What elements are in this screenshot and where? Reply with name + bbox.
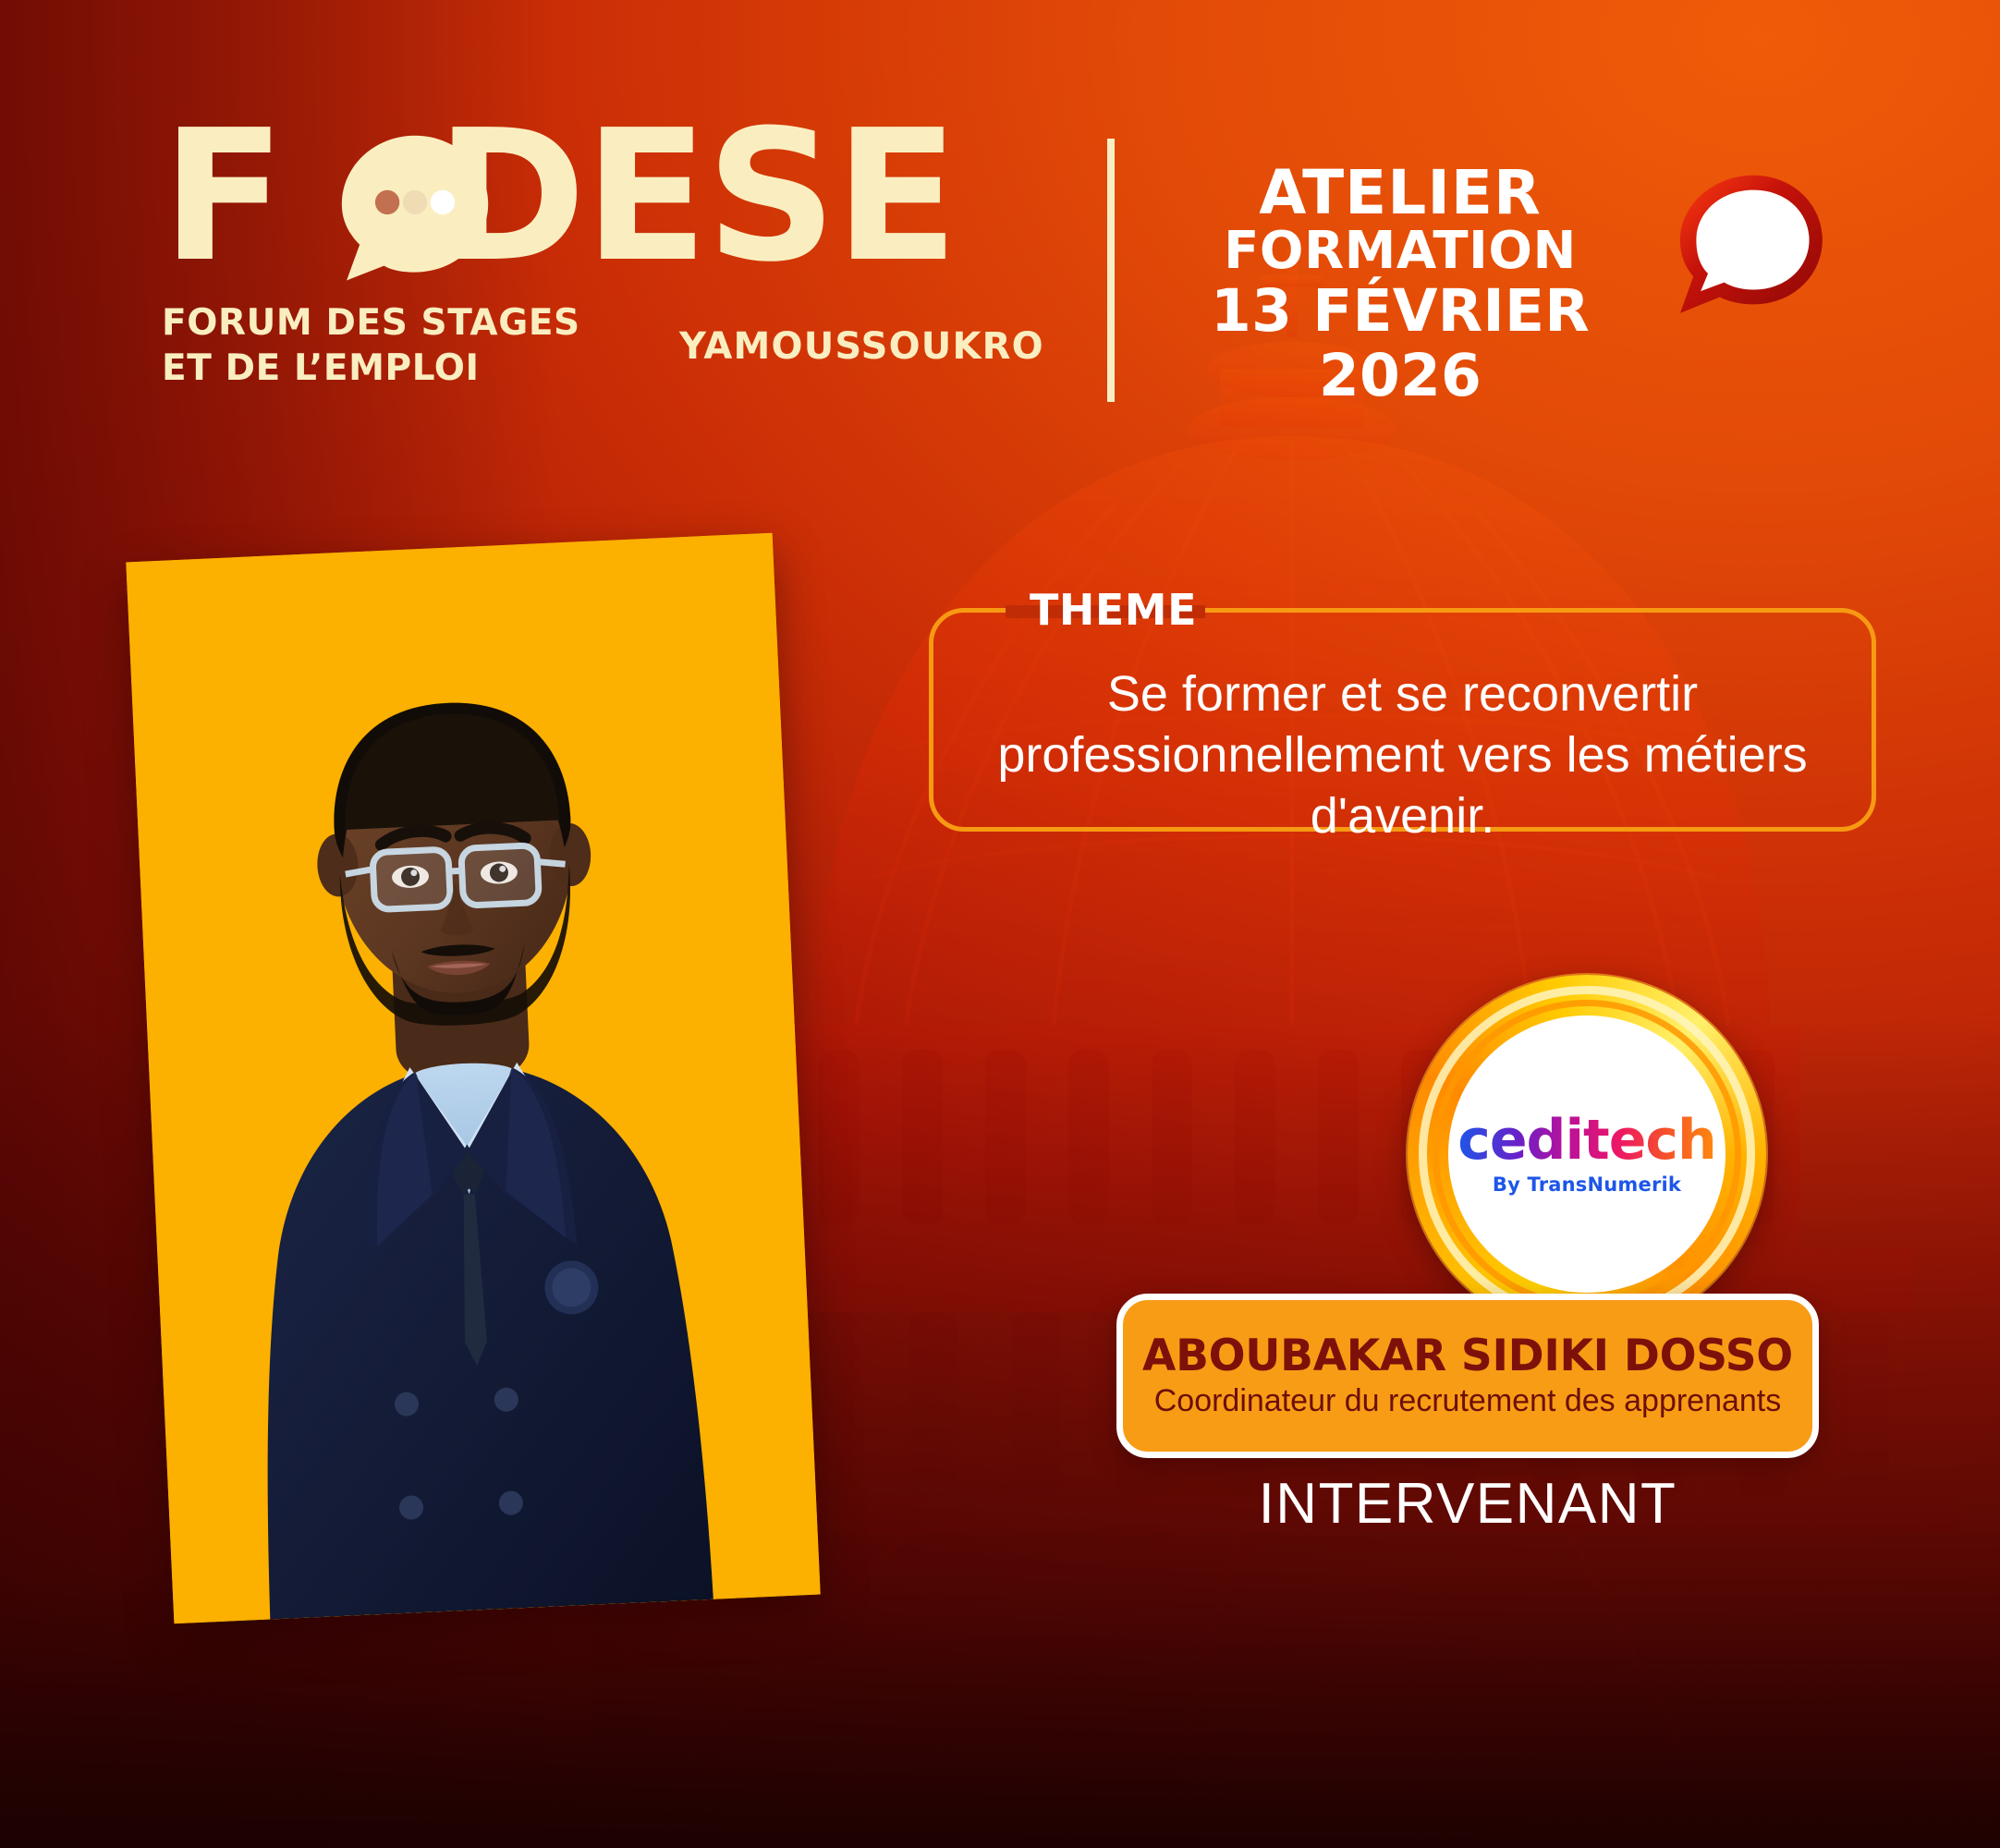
ceditech-byline: By TransNumerik	[1493, 1173, 1681, 1196]
poster-header: FODESE FORUM DES STAGES ET DE L’EMPLOI Y…	[0, 0, 2000, 434]
ceditech-logo-badge: ceditech By TransNumerik	[1408, 975, 1766, 1333]
event-info: ATELIER FORMATION 13 FÉVRIER 2026	[1174, 162, 1627, 409]
ceditech-disc: ceditech By TransNumerik	[1448, 1015, 1726, 1293]
speaker-photo-card	[126, 533, 820, 1624]
speaker-role: Coordinateur du recrutement des apprenan…	[1154, 1384, 1782, 1418]
logo-letters-dese: DESE	[436, 91, 957, 302]
logo-letter-f: F	[162, 91, 284, 302]
ceditech-wordmark: ceditech	[1457, 1112, 1715, 1168]
poster-canvas: FODESE FORUM DES STAGES ET DE L’EMPLOI Y…	[0, 0, 2000, 1848]
speech-bubble-icon	[334, 128, 496, 290]
theme-text: Se former et se reconvertir professionne…	[957, 664, 1848, 847]
event-date: 13 FÉVRIER 2026	[1174, 279, 1627, 409]
speaker-name-badge: ABOUBAKAR SIDIKI DOSSO Coordinateur du r…	[1116, 1294, 1819, 1458]
city-label: YAMOUSSOUKRO	[679, 325, 1044, 368]
speaker-name: ABOUBAKAR SIDIKI DOSSO	[1142, 1333, 1793, 1379]
speaker-portrait	[126, 533, 820, 1624]
header-divider	[1107, 139, 1115, 402]
event-kind-line2: FORMATION	[1174, 224, 1627, 278]
theme-label-wrap: THEME	[996, 583, 1230, 637]
theme-label: THEME	[1015, 589, 1212, 631]
speaker-role-label: INTERVENANT	[1116, 1471, 1819, 1537]
header-speech-bubble-icon	[1668, 171, 1830, 323]
logo-wordmark: FODESE	[162, 111, 1049, 283]
theme-box: THEME Se former et se reconvertir profes…	[929, 608, 1876, 832]
event-kind-line1: ATELIER	[1174, 162, 1627, 224]
